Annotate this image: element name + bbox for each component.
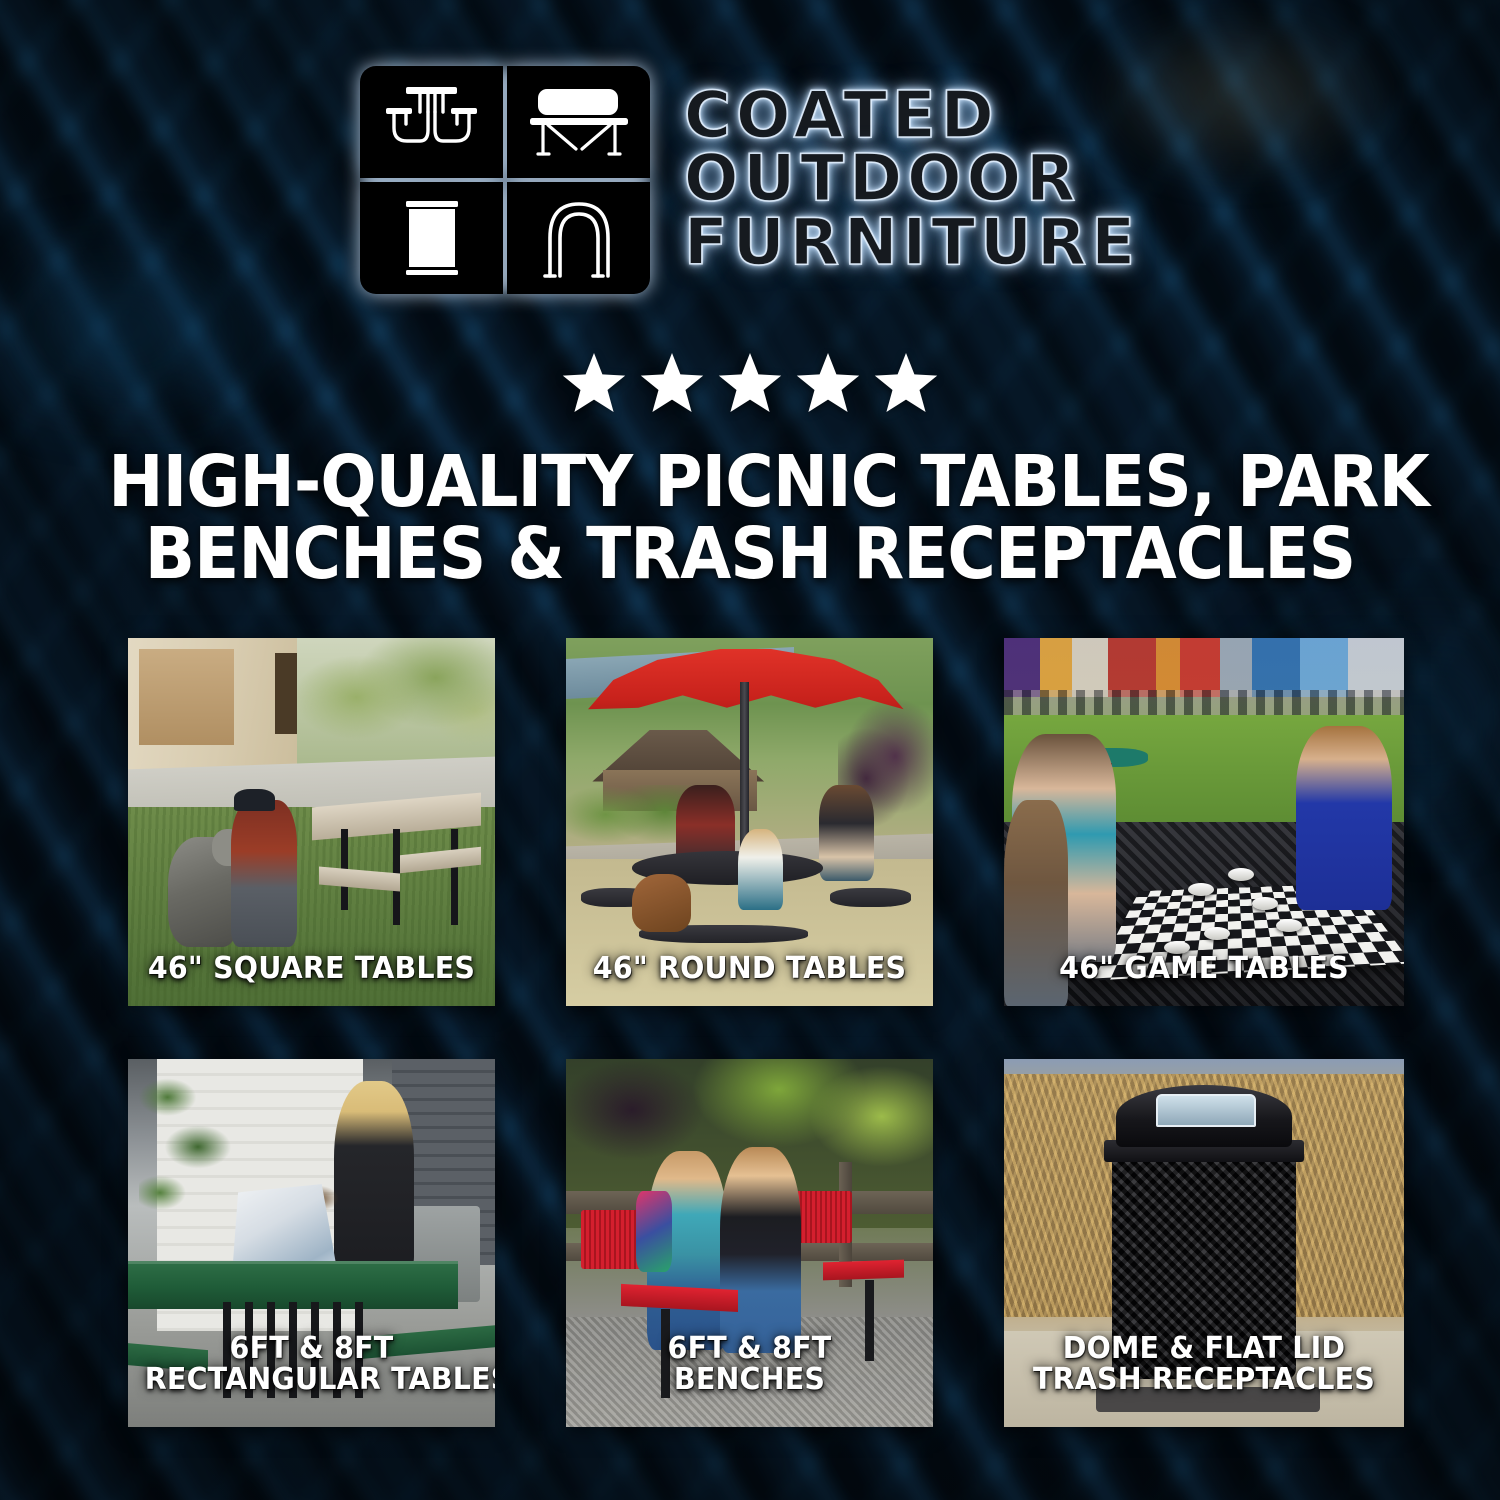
brand-logo-mark [360,66,650,294]
park-bench-icon [507,66,650,178]
headline-line-1: HIGH-QUALITY PICNIC TABLES, PARK [108,446,1391,518]
caption-line-2: RECTANGULAR TABLES [145,1364,478,1395]
star-icon [796,352,860,419]
product-caption: DOME & FLAT LID TRASH RECEPTACLES [1014,1333,1394,1417]
star-icon [640,352,704,419]
product-card-trash-receptacles[interactable]: DOME & FLAT LID TRASH RECEPTACLES [1004,1059,1404,1427]
star-icon [562,352,626,419]
promo-banner: COATED OUTDOOR FURNITURE HIGH-QUALITY PI… [0,0,1500,1500]
caption-line-1: 6FT & 8FT [583,1333,916,1364]
trash-receptacle-icon [360,182,503,294]
brand-line-3: FURNITURE [684,213,1140,274]
product-card-rectangular-tables[interactable]: 6FT & 8FT RECTANGULAR TABLES [128,1059,495,1427]
product-caption: 46" ROUND TABLES [575,953,924,1006]
caption-line-1: DOME & FLAT LID [1022,1333,1387,1364]
page-title: HIGH-QUALITY PICNIC TABLES, PARK BENCHES… [108,446,1391,591]
picnic-table-icon [360,66,503,178]
product-caption: 6FT & 8FT BENCHES [575,1333,924,1417]
brand-line-2: OUTDOOR [684,149,1140,210]
brand-name: COATED OUTDOOR FURNITURE [684,86,1140,274]
product-card-benches[interactable]: 6FT & 8FT BENCHES [566,1059,933,1427]
brand-header: COATED OUTDOOR FURNITURE [0,66,1500,294]
brand-line-1: COATED [684,86,1140,147]
caption-line-1: 46" ROUND TABLES [583,953,916,984]
product-caption: 46" SQUARE TABLES [137,953,486,1006]
product-card-round-tables[interactable]: 46" ROUND TABLES [566,638,933,1006]
star-rating [0,352,1500,419]
headline-line-2: BENCHES & TRASH RECEPTACLES [108,518,1391,590]
caption-line-1: 6FT & 8FT [145,1333,478,1364]
star-icon [874,352,938,419]
star-icon [718,352,782,419]
caption-line-2: TRASH RECEPTACLES [1022,1364,1387,1395]
product-card-square-tables[interactable]: 46" SQUARE TABLES [128,638,495,1006]
product-caption: 46" GAME TABLES [1014,953,1394,1006]
caption-line-2: BENCHES [583,1364,916,1395]
caption-line-1: 46" SQUARE TABLES [145,953,478,984]
product-card-game-tables[interactable]: 46" GAME TABLES [1004,638,1404,1006]
caption-line-1: 46" GAME TABLES [1022,953,1387,984]
bike-rack-icon [507,182,650,294]
product-grid: 46" SQUARE TABLES 46" ROUND TABLES [128,638,1400,1427]
product-caption: 6FT & 8FT RECTANGULAR TABLES [137,1333,486,1417]
